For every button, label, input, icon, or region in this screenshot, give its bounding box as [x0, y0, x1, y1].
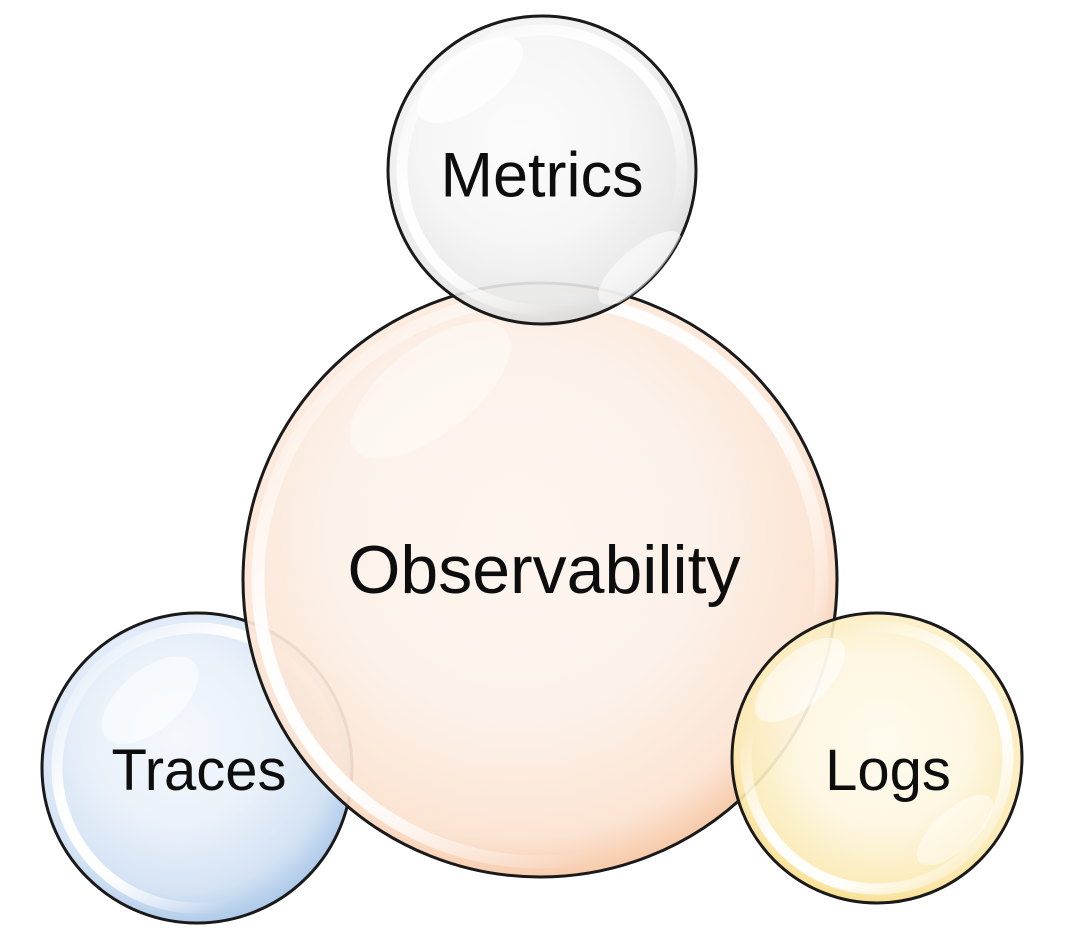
node-metrics[interactable] — [360, 0, 725, 352]
logs-circle[interactable] — [732, 613, 1022, 903]
diagram-canvas: Metrics Observability Traces Logs — [0, 0, 1082, 942]
observability-venn-svg — [0, 0, 1082, 942]
